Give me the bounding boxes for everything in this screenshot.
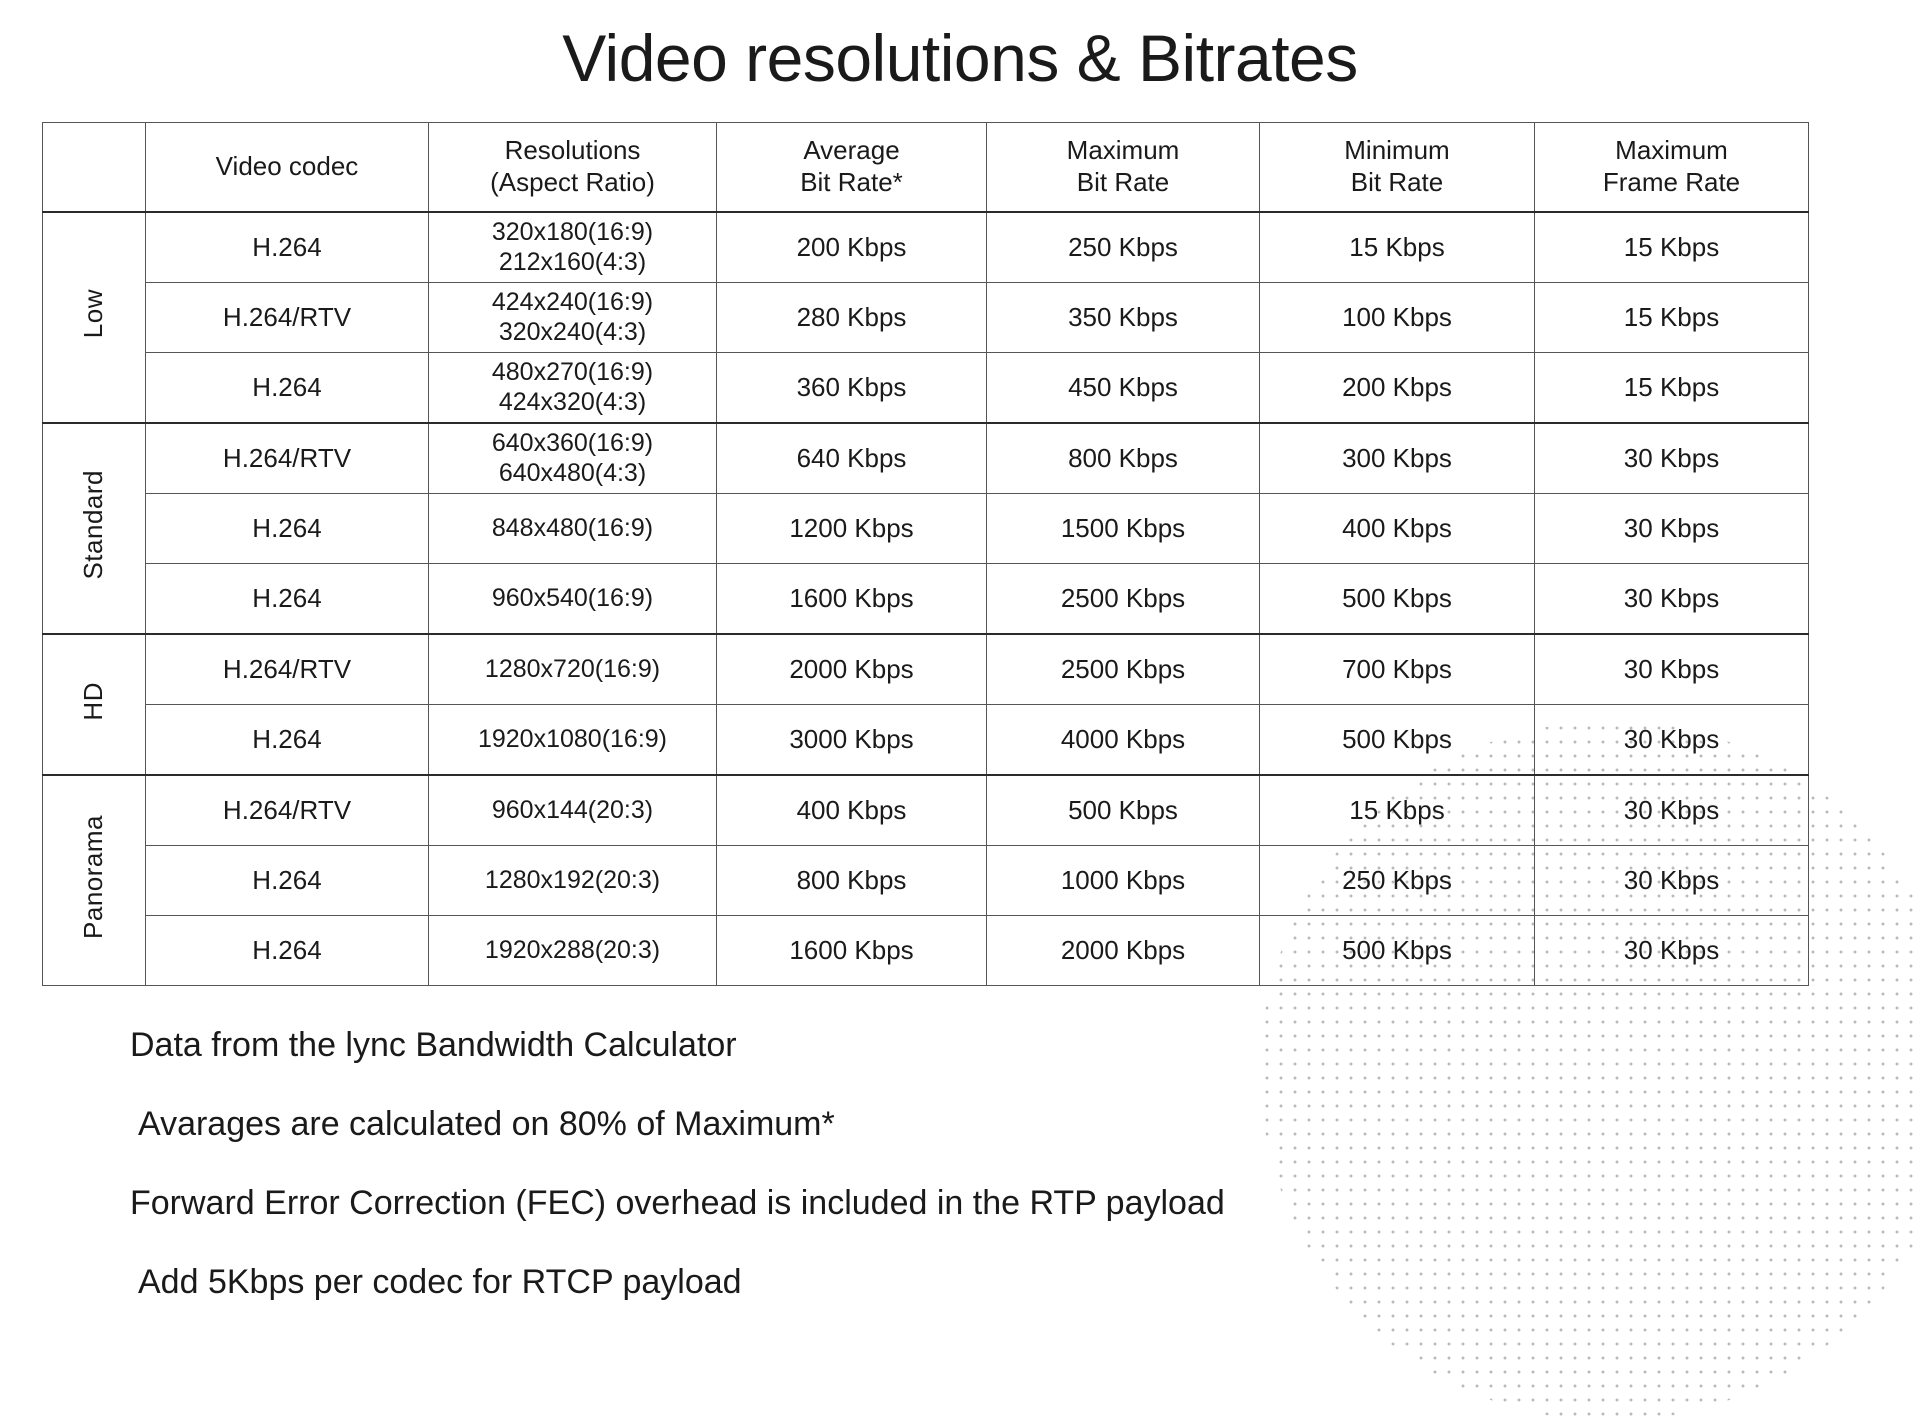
header-average-bit-rate: Average Bit Rate* bbox=[717, 123, 987, 213]
header-minimum-line1: Minimum bbox=[1260, 135, 1534, 167]
resolution-primary: 1280x192(20:3) bbox=[429, 866, 716, 896]
cell-resolutions: 1280x192(20:3) bbox=[429, 846, 717, 916]
cell-maximum-frame-rate: 30 Kbps bbox=[1535, 634, 1809, 705]
cell-video-codec: H.264 bbox=[146, 494, 429, 564]
table-row: LowH.264320x180(16:9)212x160(4:3)200 Kbp… bbox=[43, 212, 1809, 283]
group-label-text: Low bbox=[78, 289, 109, 338]
page-title: Video resolutions & Bitrates bbox=[0, 0, 1920, 109]
resolution-secondary: 320x240(4:3) bbox=[429, 318, 716, 348]
cell-maximum-bit-rate: 500 Kbps bbox=[987, 775, 1260, 846]
group-label-standard: Standard bbox=[43, 423, 146, 634]
header-maximum-line2: Bit Rate bbox=[987, 167, 1259, 199]
cell-video-codec: H.264 bbox=[146, 705, 429, 776]
header-minimum-line2: Bit Rate bbox=[1260, 167, 1534, 199]
resolution-primary: 960x540(16:9) bbox=[429, 584, 716, 614]
cell-resolutions: 1920x288(20:3) bbox=[429, 916, 717, 986]
cell-maximum-bit-rate: 250 Kbps bbox=[987, 212, 1260, 283]
header-average-line1: Average bbox=[717, 135, 986, 167]
cell-maximum-frame-rate: 30 Kbps bbox=[1535, 564, 1809, 635]
cell-minimum-bit-rate: 500 Kbps bbox=[1260, 705, 1535, 776]
cell-average-bit-rate: 1200 Kbps bbox=[717, 494, 987, 564]
table-row: PanoramaH.264/RTV960x144(20:3)400 Kbps50… bbox=[43, 775, 1809, 846]
cell-resolutions: 320x180(16:9)212x160(4:3) bbox=[429, 212, 717, 283]
cell-video-codec: H.264/RTV bbox=[146, 423, 429, 494]
resolution-secondary: 212x160(4:3) bbox=[429, 248, 716, 278]
cell-average-bit-rate: 640 Kbps bbox=[717, 423, 987, 494]
cell-resolutions: 1280x720(16:9) bbox=[429, 634, 717, 705]
resolution-primary: 1920x1080(16:9) bbox=[429, 725, 716, 755]
header-group-blank bbox=[43, 123, 146, 213]
cell-resolutions: 960x540(16:9) bbox=[429, 564, 717, 635]
resolution-primary: 424x240(16:9) bbox=[429, 288, 716, 318]
cell-average-bit-rate: 360 Kbps bbox=[717, 353, 987, 424]
footnote-3: Forward Error Correction (FEC) overhead … bbox=[130, 1186, 1225, 1220]
table-header: Video codec Resolutions (Aspect Ratio) A… bbox=[43, 123, 1809, 213]
table-header-row: Video codec Resolutions (Aspect Ratio) A… bbox=[43, 123, 1809, 213]
resolution-primary: 1280x720(16:9) bbox=[429, 655, 716, 685]
resolution-primary: 848x480(16:9) bbox=[429, 514, 716, 544]
cell-minimum-bit-rate: 15 Kbps bbox=[1260, 212, 1535, 283]
header-maxframe-line1: Maximum bbox=[1535, 135, 1808, 167]
table-row: H.2641280x192(20:3)800 Kbps1000 Kbps250 … bbox=[43, 846, 1809, 916]
cell-maximum-bit-rate: 450 Kbps bbox=[987, 353, 1260, 424]
group-label-text: HD bbox=[78, 682, 109, 721]
resolution-primary: 1920x288(20:3) bbox=[429, 936, 716, 966]
cell-video-codec: H.264 bbox=[146, 846, 429, 916]
cell-maximum-bit-rate: 800 Kbps bbox=[987, 423, 1260, 494]
video-resolutions-table: Video codec Resolutions (Aspect Ratio) A… bbox=[42, 122, 1809, 986]
table-row: H.264480x270(16:9)424x320(4:3)360 Kbps45… bbox=[43, 353, 1809, 424]
footnote-2: Avarages are calculated on 80% of Maximu… bbox=[130, 1107, 1225, 1141]
resolution-primary: 480x270(16:9) bbox=[429, 358, 716, 388]
header-minimum-bit-rate: Minimum Bit Rate bbox=[1260, 123, 1535, 213]
cell-maximum-bit-rate: 2000 Kbps bbox=[987, 916, 1260, 986]
cell-maximum-bit-rate: 350 Kbps bbox=[987, 283, 1260, 353]
header-maxframe-line2: Frame Rate bbox=[1535, 167, 1808, 199]
table-row: H.264/RTV424x240(16:9)320x240(4:3)280 Kb… bbox=[43, 283, 1809, 353]
cell-minimum-bit-rate: 700 Kbps bbox=[1260, 634, 1535, 705]
header-resolutions-line2: (Aspect Ratio) bbox=[429, 167, 716, 199]
cell-resolutions: 480x270(16:9)424x320(4:3) bbox=[429, 353, 717, 424]
cell-resolutions: 848x480(16:9) bbox=[429, 494, 717, 564]
header-maximum-bit-rate: Maximum Bit Rate bbox=[987, 123, 1260, 213]
cell-average-bit-rate: 3000 Kbps bbox=[717, 705, 987, 776]
cell-maximum-frame-rate: 30 Kbps bbox=[1535, 775, 1809, 846]
group-label-low: Low bbox=[43, 212, 146, 423]
cell-maximum-frame-rate: 15 Kbps bbox=[1535, 283, 1809, 353]
cell-maximum-frame-rate: 30 Kbps bbox=[1535, 846, 1809, 916]
cell-resolutions: 640x360(16:9)640x480(4:3) bbox=[429, 423, 717, 494]
cell-maximum-bit-rate: 1500 Kbps bbox=[987, 494, 1260, 564]
cell-video-codec: H.264 bbox=[146, 212, 429, 283]
cell-maximum-frame-rate: 15 Kbps bbox=[1535, 353, 1809, 424]
resolution-primary: 640x360(16:9) bbox=[429, 429, 716, 459]
header-maximum-frame-rate: Maximum Frame Rate bbox=[1535, 123, 1809, 213]
cell-video-codec: H.264 bbox=[146, 564, 429, 635]
cell-average-bit-rate: 1600 Kbps bbox=[717, 564, 987, 635]
table-row: H.2641920x288(20:3)1600 Kbps2000 Kbps500… bbox=[43, 916, 1809, 986]
table-row: H.264960x540(16:9)1600 Kbps2500 Kbps500 … bbox=[43, 564, 1809, 635]
cell-maximum-bit-rate: 4000 Kbps bbox=[987, 705, 1260, 776]
cell-maximum-frame-rate: 30 Kbps bbox=[1535, 494, 1809, 564]
cell-maximum-frame-rate: 30 Kbps bbox=[1535, 705, 1809, 776]
cell-resolutions: 1920x1080(16:9) bbox=[429, 705, 717, 776]
cell-maximum-bit-rate: 2500 Kbps bbox=[987, 634, 1260, 705]
footnotes: Data from the lync Bandwidth CalculatorA… bbox=[130, 1028, 1225, 1344]
cell-maximum-bit-rate: 1000 Kbps bbox=[987, 846, 1260, 916]
cell-average-bit-rate: 400 Kbps bbox=[717, 775, 987, 846]
cell-average-bit-rate: 200 Kbps bbox=[717, 212, 987, 283]
cell-minimum-bit-rate: 15 Kbps bbox=[1260, 775, 1535, 846]
header-maximum-line1: Maximum bbox=[987, 135, 1259, 167]
cell-minimum-bit-rate: 100 Kbps bbox=[1260, 283, 1535, 353]
header-average-line2: Bit Rate* bbox=[717, 167, 986, 199]
cell-minimum-bit-rate: 300 Kbps bbox=[1260, 423, 1535, 494]
resolution-primary: 960x144(20:3) bbox=[429, 796, 716, 826]
video-resolutions-table-wrap: Video codec Resolutions (Aspect Ratio) A… bbox=[42, 122, 1808, 986]
group-label-text: Panorama bbox=[78, 815, 109, 939]
cell-video-codec: H.264/RTV bbox=[146, 634, 429, 705]
header-resolutions: Resolutions (Aspect Ratio) bbox=[429, 123, 717, 213]
cell-maximum-bit-rate: 2500 Kbps bbox=[987, 564, 1260, 635]
resolution-secondary: 640x480(4:3) bbox=[429, 459, 716, 489]
footnote-4: Add 5Kbps per codec for RTCP payload bbox=[130, 1265, 1225, 1299]
cell-video-codec: H.264/RTV bbox=[146, 775, 429, 846]
cell-average-bit-rate: 280 Kbps bbox=[717, 283, 987, 353]
table-row: H.264848x480(16:9)1200 Kbps1500 Kbps400 … bbox=[43, 494, 1809, 564]
cell-average-bit-rate: 800 Kbps bbox=[717, 846, 987, 916]
header-resolutions-line1: Resolutions bbox=[429, 135, 716, 167]
cell-maximum-frame-rate: 15 Kbps bbox=[1535, 212, 1809, 283]
slide-page: Video resolutions & Bitrates Video codec… bbox=[0, 0, 1920, 1361]
table-row: H.2641920x1080(16:9)3000 Kbps4000 Kbps50… bbox=[43, 705, 1809, 776]
cell-minimum-bit-rate: 250 Kbps bbox=[1260, 846, 1535, 916]
cell-minimum-bit-rate: 200 Kbps bbox=[1260, 353, 1535, 424]
table-row: HDH.264/RTV1280x720(16:9)2000 Kbps2500 K… bbox=[43, 634, 1809, 705]
group-label-hd: HD bbox=[43, 634, 146, 775]
cell-minimum-bit-rate: 500 Kbps bbox=[1260, 564, 1535, 635]
group-label-panorama: Panorama bbox=[43, 775, 146, 986]
cell-maximum-frame-rate: 30 Kbps bbox=[1535, 423, 1809, 494]
resolution-secondary: 424x320(4:3) bbox=[429, 388, 716, 418]
table-body: LowH.264320x180(16:9)212x160(4:3)200 Kbp… bbox=[43, 212, 1809, 986]
cell-minimum-bit-rate: 400 Kbps bbox=[1260, 494, 1535, 564]
cell-resolutions: 960x144(20:3) bbox=[429, 775, 717, 846]
cell-video-codec: H.264 bbox=[146, 353, 429, 424]
cell-minimum-bit-rate: 500 Kbps bbox=[1260, 916, 1535, 986]
resolution-primary: 320x180(16:9) bbox=[429, 218, 716, 248]
cell-video-codec: H.264/RTV bbox=[146, 283, 429, 353]
header-video-codec: Video codec bbox=[146, 123, 429, 213]
cell-resolutions: 424x240(16:9)320x240(4:3) bbox=[429, 283, 717, 353]
cell-maximum-frame-rate: 30 Kbps bbox=[1535, 916, 1809, 986]
cell-video-codec: H.264 bbox=[146, 916, 429, 986]
cell-average-bit-rate: 1600 Kbps bbox=[717, 916, 987, 986]
cell-average-bit-rate: 2000 Kbps bbox=[717, 634, 987, 705]
group-label-text: Standard bbox=[78, 470, 109, 580]
footnote-1: Data from the lync Bandwidth Calculator bbox=[130, 1028, 1225, 1062]
table-row: StandardH.264/RTV640x360(16:9)640x480(4:… bbox=[43, 423, 1809, 494]
